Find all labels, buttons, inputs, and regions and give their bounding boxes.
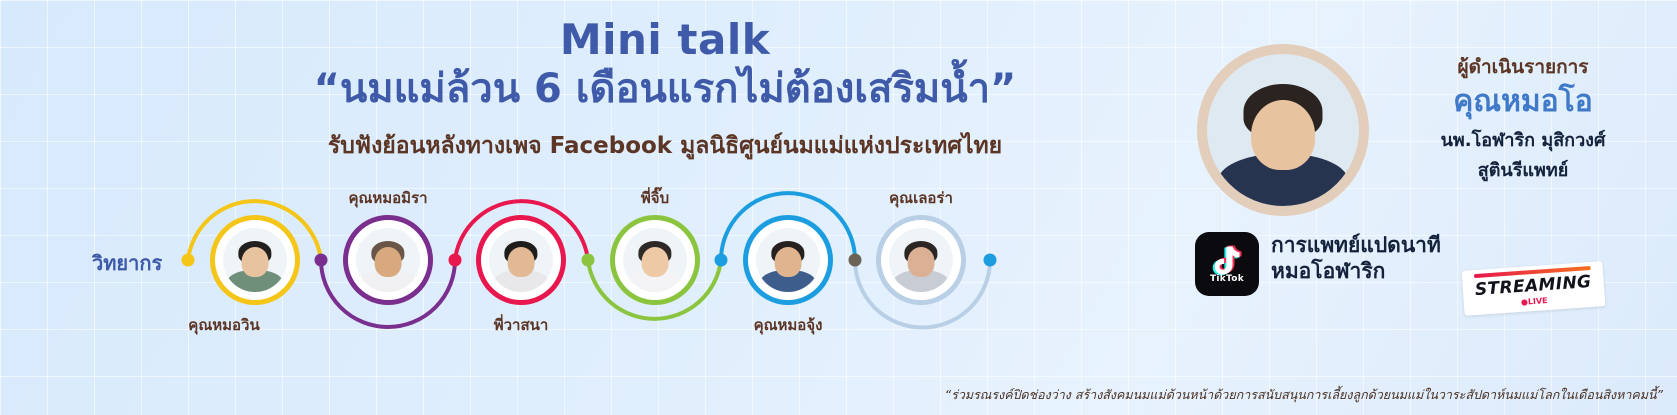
connector-dot-4 [582, 254, 595, 267]
speaker-name-4: พี่จิ๊บ [641, 186, 669, 210]
speaker-avatar-6[interactable] [876, 215, 966, 305]
speakers-section: วิทยากร คุณหมอวินคุณหมอมิราพี่วาสนาพี่จิ… [0, 175, 1080, 350]
speaker-avatar-4[interactable] [610, 215, 700, 305]
speaker-avatar-5[interactable] [743, 215, 833, 305]
host-avatar [1197, 44, 1369, 216]
subtitle-text: รับฟังย้อนหลังทางเพจ Facebook มูลนิธิศูน… [250, 128, 1080, 164]
footer-caption: “ร่วมรณรงค์ปิดช่องว่าง สร้างสังคมนมแม่ด้… [945, 385, 1663, 405]
speaker-name-3: พี่วาสนา [494, 313, 549, 337]
speaker-name-5: คุณหมอจุ้ง [754, 313, 823, 337]
channel-name: การแพทย์แปดนาที หมอโอฬาริก [1271, 232, 1441, 285]
speaker-avatar-2[interactable] [343, 215, 433, 305]
tiktok-icon[interactable]: TikTok [1195, 232, 1259, 296]
speaker-name-2: คุณหมอมิรา [348, 186, 427, 210]
channel-line-1: การแพทย์แปดนาที [1271, 232, 1441, 258]
host-text-block: ผู้ดำเนินรายการ คุณหมอโอ นพ.โอฬาริก มุสิ… [1383, 52, 1663, 184]
connector-dot-7 [984, 254, 997, 267]
connector-dot-1 [182, 254, 195, 267]
connector-dot-3 [449, 254, 462, 267]
host-name: คุณหมอโอ [1383, 85, 1663, 118]
streaming-badge: STREAMING ●LIVE [1462, 261, 1606, 316]
speaker-name-6: คุณเลอร่า [889, 186, 953, 210]
connector-dot-6 [849, 254, 862, 267]
speaker-name-1: คุณหมอวิน [188, 313, 259, 337]
channel-section: TikTok การแพทย์แปดนาที หมอโอฬาริก STREAM… [1195, 228, 1665, 308]
channel-line-2: หมอโอฬาริก [1271, 258, 1441, 284]
host-full-name: นพ.โอฬาริก มุสิกวงศ์ [1383, 125, 1663, 154]
page-title: Mini talk [250, 18, 1080, 62]
speaker-avatar-1[interactable] [210, 215, 300, 305]
host-role: ผู้ดำเนินรายการ [1383, 52, 1663, 82]
speaker-avatar-3[interactable] [476, 215, 566, 305]
host-specialty: สูตินรีแพทย์ [1383, 155, 1663, 184]
connector-dot-5 [715, 254, 728, 267]
event-banner: Mini talk “นมแม่ล้วน 6 เดือนแรกไม่ต้องเส… [0, 0, 1677, 415]
headline-quote: “นมแม่ล้วน 6 เดือนแรกไม่ต้องเสริมน้ำ” [250, 64, 1080, 114]
connector-dot-2 [315, 254, 328, 267]
title-block: Mini talk “นมแม่ล้วน 6 เดือนแรกไม่ต้องเส… [250, 18, 1080, 164]
host-section: ผู้ดำเนินรายการ คุณหมอโอ นพ.โอฬาริก มุสิ… [1197, 44, 1667, 224]
tiktok-wordmark: TikTok [1210, 274, 1244, 284]
